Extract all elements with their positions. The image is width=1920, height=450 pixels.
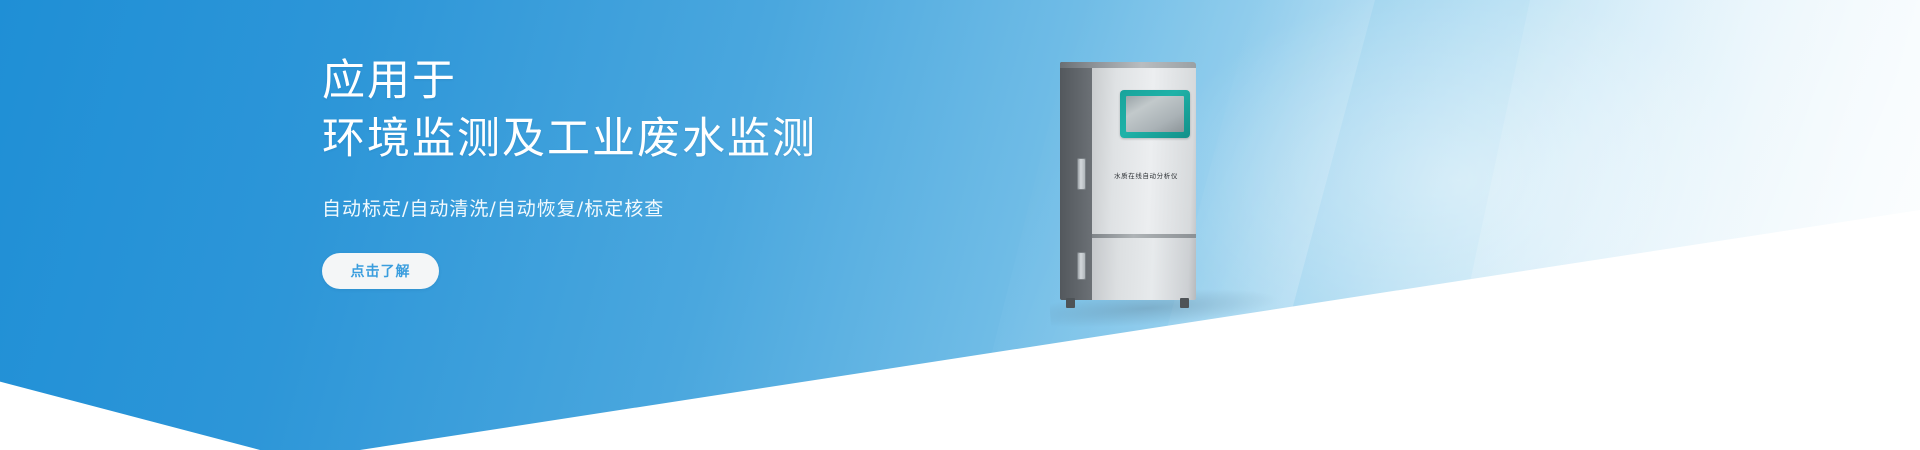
hero-banner: 应用于 环境监测及工业废水监测 自动标定/自动清洗/自动恢复/标定核查 点击了解…: [0, 0, 1920, 450]
cabinet-foot-right: [1180, 298, 1189, 308]
learn-more-button[interactable]: 点击了解: [322, 253, 439, 289]
product-label: 水质在线自动分析仪: [1100, 170, 1192, 180]
display-screen-glass: [1126, 96, 1184, 132]
headline-line-2: 环境监测及工业废水监测: [322, 110, 1082, 168]
cabinet-top: [1060, 62, 1196, 68]
white-wedge-bottom-left: [0, 270, 260, 450]
cabinet-foot-left: [1066, 298, 1075, 308]
banner-content: 应用于 环境监测及工业废水监测 自动标定/自动清洗/自动恢复/标定核查 点击了解: [322, 0, 1082, 450]
banner-headline: 应用于 环境监测及工业废水监测: [322, 0, 1082, 168]
door-handle-icon-upper: [1077, 158, 1086, 190]
product-analyzer-cabinet: 水质在线自动分析仪: [1060, 62, 1240, 314]
door-handle-icon-lower: [1077, 252, 1086, 280]
cabinet-lower-compartment: [1092, 238, 1196, 300]
display-screen-icon: [1120, 90, 1190, 138]
banner-subtitle: 自动标定/自动清洗/自动恢复/标定核查: [322, 168, 1082, 221]
headline-line-1: 应用于: [322, 56, 457, 106]
